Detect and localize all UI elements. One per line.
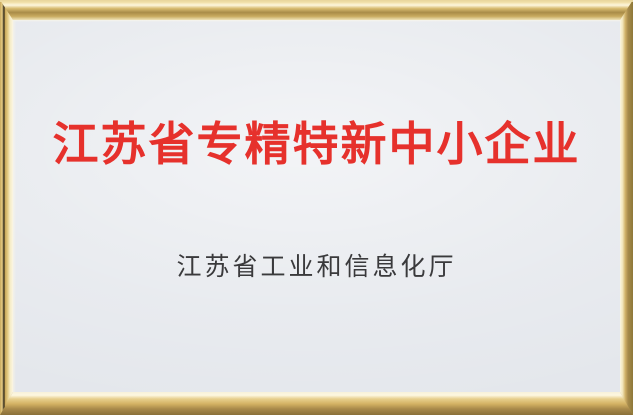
frame-left (0, 0, 13, 415)
frame-bottom (0, 392, 633, 415)
award-plaque: 江苏省专精特新中小企业 江苏省工业和信息化厅 (0, 0, 633, 415)
plaque-issuer: 江苏省工业和信息化厅 (13, 252, 620, 282)
plaque-title: 江苏省专精特新中小企业 (13, 119, 620, 169)
plaque-panel: 江苏省专精特新中小企业 江苏省工业和信息化厅 (13, 20, 620, 392)
frame-top (0, 0, 633, 20)
frame-right (620, 0, 633, 415)
plaque-text: 江苏省专精特新中小企业 江苏省工业和信息化厅 (13, 20, 620, 392)
frame-outer-highlight (0, 0, 633, 2)
